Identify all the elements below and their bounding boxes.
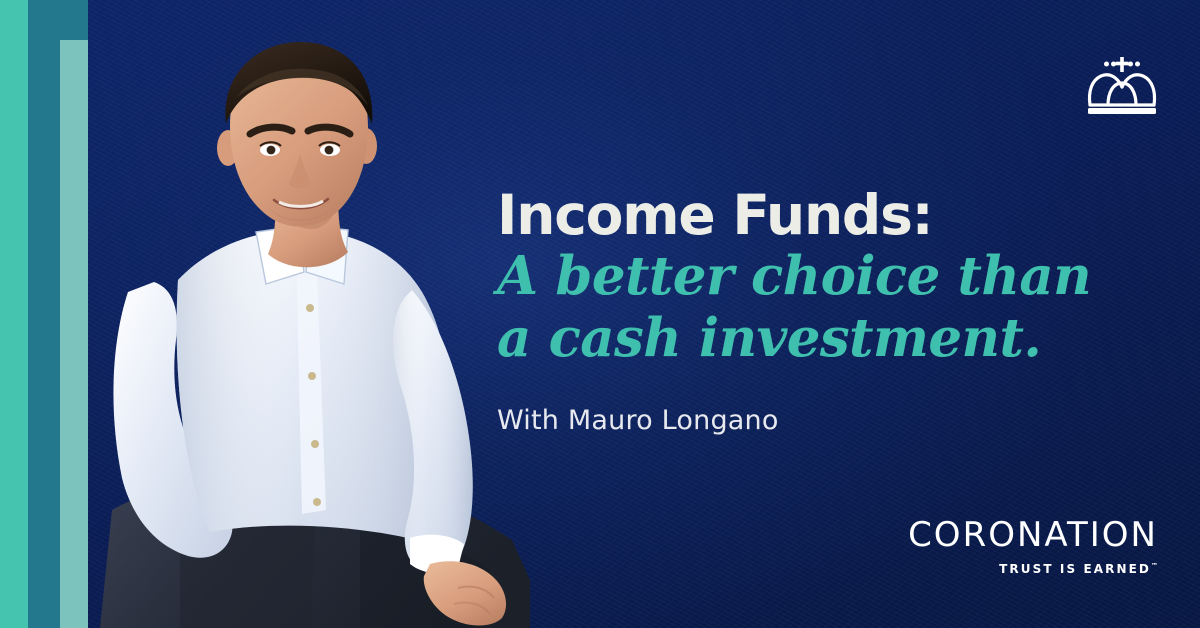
- headline-secondary: A better choice than a cash investment.: [497, 246, 1097, 369]
- logo-tagline-text: TRUST IS EARNED: [999, 562, 1151, 576]
- headline-secondary-line-2: a cash investment.: [497, 308, 1097, 369]
- promotional-banner: Income Funds: A better choice than a cas…: [0, 0, 1200, 628]
- trademark-symbol: ™: [1151, 562, 1158, 570]
- logo-wordmark: CORONATION: [908, 518, 1158, 552]
- presenter-byline: With Mauro Longano: [497, 405, 1097, 436]
- accent-band-bright-teal: [0, 0, 28, 628]
- logo-tagline: TRUST IS EARNED™: [908, 563, 1158, 575]
- coronation-crown-icon: [1082, 55, 1162, 117]
- portrait-image: [60, 40, 530, 628]
- copy-block: Income Funds: A better choice than a cas…: [497, 186, 1097, 436]
- headline-secondary-line-1: A better choice than: [497, 246, 1097, 307]
- headline-primary: Income Funds:: [497, 186, 1097, 244]
- coronation-logo-lockup: CORONATION TRUST IS EARNED™: [908, 518, 1158, 575]
